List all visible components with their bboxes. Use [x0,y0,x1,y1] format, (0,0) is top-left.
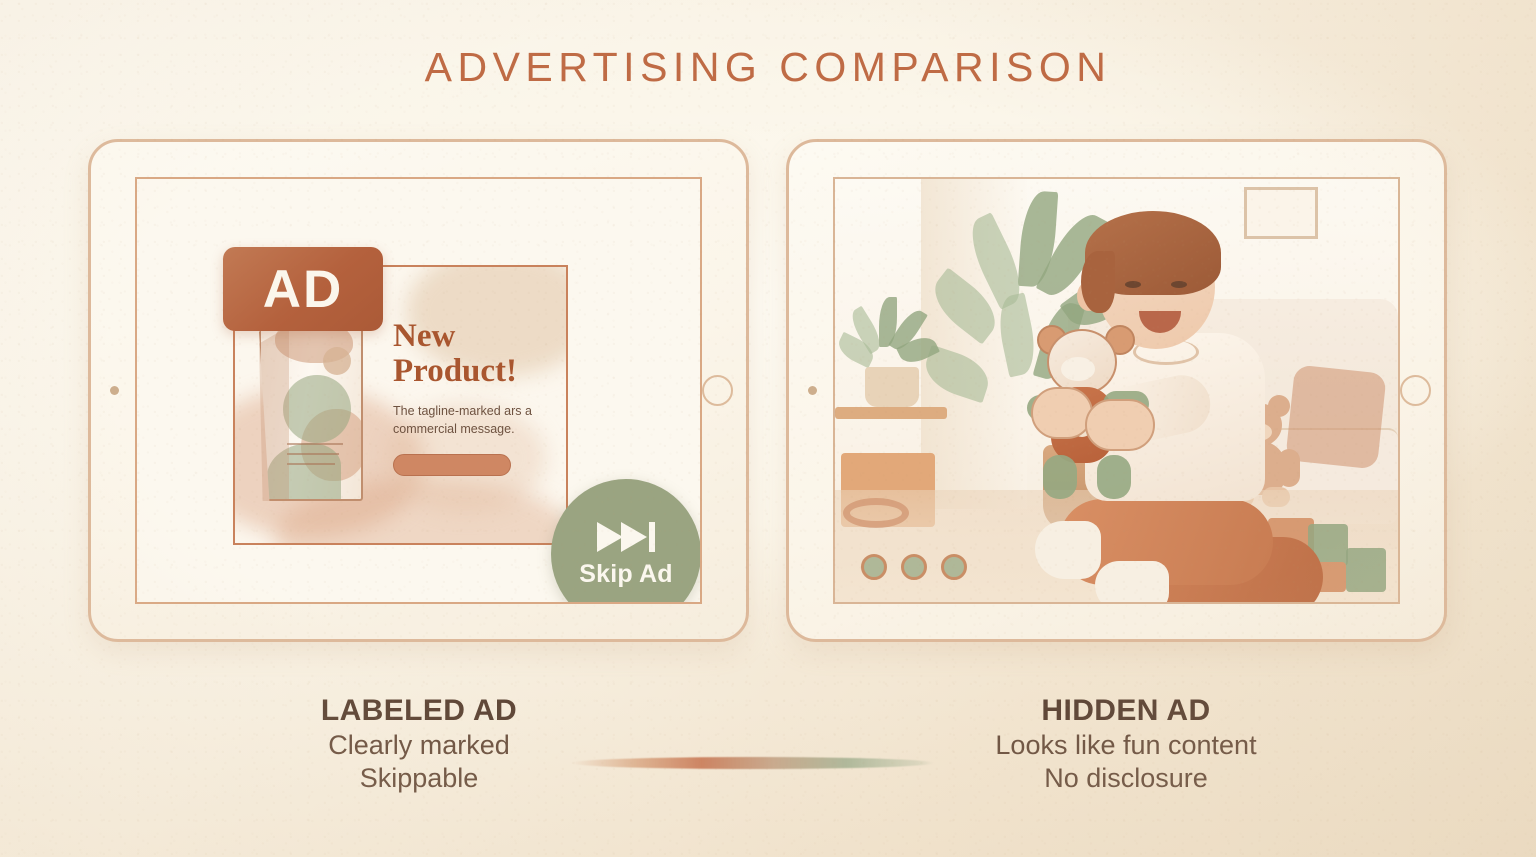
labeled-ad-screen: New Product! The tagline-marked ars a co… [135,177,702,604]
ad-tagline: The tagline-marked ars a commercial mess… [393,402,550,438]
caption-hidden-ad: HIDDEN AD Looks like fun content No disc… [916,694,1336,793]
ad-headline: New Product! [393,319,550,389]
child-sock [1095,561,1169,604]
potted-plant-small [843,297,933,407]
ad-copy-block: New Product! The tagline-marked ars a co… [393,319,550,476]
brush-stroke-divider [571,757,934,769]
page-title: ADVERTISING COMPARISON [0,44,1536,91]
tablet-labeled-ad: New Product! The tagline-marked ars a co… [88,139,749,642]
infographic-canvas: ADVERTISING COMPARISON [0,0,1536,857]
skip-ad-button[interactable]: Skip Ad [551,479,701,604]
skip-ad-label: Skip Ad [579,560,673,589]
caption-title: LABELED AD [209,694,629,728]
child-hands [1021,387,1171,473]
caption-line-1: Clearly marked [209,730,629,761]
child-eye [1125,281,1141,288]
child-hair-side [1081,251,1115,313]
caption-labeled-ad: LABELED AD Clearly marked Skippable [209,694,629,793]
caption-line-2: No disclosure [916,763,1336,794]
home-button-icon[interactable] [1400,375,1431,406]
plant-pot-small [865,367,919,407]
home-button-icon[interactable] [702,375,733,406]
caption-title: HIDDEN AD [916,694,1336,728]
caption-line-2: Skippable [209,763,629,794]
hidden-ad-screen [833,177,1400,604]
child-sock [1035,521,1101,579]
child-eye [1171,281,1187,288]
camera-dot-icon [808,386,817,395]
camera-dot-icon [110,386,119,395]
tablet-hidden-ad [786,139,1447,642]
child-playing-illustration [835,179,1398,602]
child-figure [1021,207,1351,604]
skip-forward-icon [595,520,657,554]
ad-badge-label: AD [263,259,344,320]
toy-ring [843,498,909,528]
ad-label-badge: AD [223,247,383,331]
ad-cta-button[interactable] [393,454,511,476]
caption-line-1: Looks like fun content [916,730,1336,761]
toy-train [857,526,977,580]
product-bag-icon [259,315,363,501]
